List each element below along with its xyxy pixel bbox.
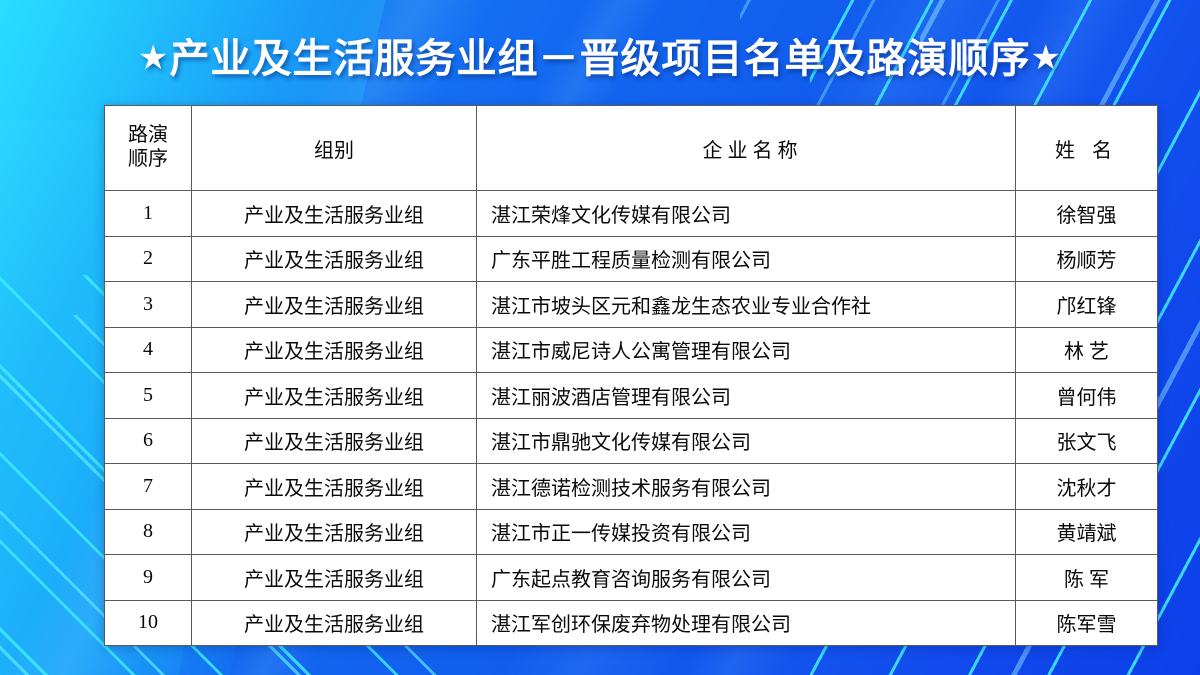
roadshow-table-container: 路演顺序 组别 企 业 名 称 姓 名 1产业及生活服务业组湛江荣烽文化传媒有限… [104, 105, 1097, 646]
table-row: 4产业及生活服务业组湛江市威尼诗人公寓管理有限公司林 艺 [105, 327, 1158, 373]
cell-group: 产业及生活服务业组 [192, 373, 477, 419]
column-header-order: 路演顺序 [105, 106, 192, 191]
table-row: 10产业及生活服务业组湛江军创环保废弃物处理有限公司陈军雪 [105, 600, 1158, 646]
table-header-row: 路演顺序 组别 企 业 名 称 姓 名 [105, 106, 1158, 191]
cell-group: 产业及生活服务业组 [192, 282, 477, 328]
table-row: 9产业及生活服务业组广东起点教育咨询服务有限公司陈 军 [105, 555, 1158, 601]
cell-company: 湛江市正一传媒投资有限公司 [477, 509, 1016, 555]
cell-company: 湛江市坡头区元和鑫龙生态农业专业合作社 [477, 282, 1016, 328]
table-row: 2产业及生活服务业组广东平胜工程质量检测有限公司杨顺芳 [105, 236, 1158, 282]
cell-company: 湛江军创环保废弃物处理有限公司 [477, 600, 1016, 646]
cell-order: 4 [105, 327, 192, 373]
cell-company: 湛江市鼎驰文化传媒有限公司 [477, 418, 1016, 464]
cell-order: 9 [105, 555, 192, 601]
cell-person: 徐智强 [1016, 191, 1158, 237]
column-header-order-line2: 顺序 [128, 148, 168, 170]
table-header: 路演顺序 组别 企 业 名 称 姓 名 [105, 106, 1158, 191]
cell-person: 林 艺 [1016, 327, 1158, 373]
star-icon-right: ★ [1031, 39, 1062, 77]
cell-company: 湛江德诺检测技术服务有限公司 [477, 464, 1016, 510]
cell-order: 10 [105, 600, 192, 646]
cell-group: 产业及生活服务业组 [192, 327, 477, 373]
table-row: 5产业及生活服务业组湛江丽波酒店管理有限公司曾何伟 [105, 373, 1158, 419]
cell-person: 邝红锋 [1016, 282, 1158, 328]
cell-group: 产业及生活服务业组 [192, 555, 477, 601]
cell-order: 7 [105, 464, 192, 510]
cell-order: 5 [105, 373, 192, 419]
cell-group: 产业及生活服务业组 [192, 236, 477, 282]
cell-person: 陈军雪 [1016, 600, 1158, 646]
table-body: 1产业及生活服务业组湛江荣烽文化传媒有限公司徐智强2产业及生活服务业组广东平胜工… [105, 191, 1158, 646]
table-row: 7产业及生活服务业组湛江德诺检测技术服务有限公司沈秋才 [105, 464, 1158, 510]
cell-group: 产业及生活服务业组 [192, 464, 477, 510]
cell-group: 产业及生活服务业组 [192, 509, 477, 555]
star-icon-left: ★ [138, 39, 169, 77]
column-header-person: 姓 名 [1016, 106, 1158, 191]
slide-title: ★产业及生活服务业组－晋级项目名单及路演顺序★ [0, 26, 1200, 84]
cell-group: 产业及生活服务业组 [192, 600, 477, 646]
cell-order: 3 [105, 282, 192, 328]
column-header-company: 企 业 名 称 [477, 106, 1016, 191]
cell-person: 杨顺芳 [1016, 236, 1158, 282]
cell-company: 广东平胜工程质量检测有限公司 [477, 236, 1016, 282]
cell-company: 湛江荣烽文化传媒有限公司 [477, 191, 1016, 237]
cell-order: 8 [105, 509, 192, 555]
cell-order: 2 [105, 236, 192, 282]
cell-person: 陈 军 [1016, 555, 1158, 601]
cell-company: 湛江丽波酒店管理有限公司 [477, 373, 1016, 419]
table-row: 6产业及生活服务业组湛江市鼎驰文化传媒有限公司张文飞 [105, 418, 1158, 464]
cell-group: 产业及生活服务业组 [192, 418, 477, 464]
roadshow-table: 路演顺序 组别 企 业 名 称 姓 名 1产业及生活服务业组湛江荣烽文化传媒有限… [104, 105, 1158, 646]
table-row: 3产业及生活服务业组湛江市坡头区元和鑫龙生态农业专业合作社邝红锋 [105, 282, 1158, 328]
cell-company: 湛江市威尼诗人公寓管理有限公司 [477, 327, 1016, 373]
cell-person: 沈秋才 [1016, 464, 1158, 510]
cell-group: 产业及生活服务业组 [192, 191, 477, 237]
cell-person: 曾何伟 [1016, 373, 1158, 419]
slide-title-text: 产业及生活服务业组－晋级项目名单及路演顺序 [170, 37, 1031, 81]
cell-person: 张文飞 [1016, 418, 1158, 464]
column-header-order-line1: 路演 [128, 124, 168, 146]
cell-person: 黄靖斌 [1016, 509, 1158, 555]
table-row: 8产业及生活服务业组湛江市正一传媒投资有限公司黄靖斌 [105, 509, 1158, 555]
column-header-group: 组别 [192, 106, 477, 191]
cell-order: 1 [105, 191, 192, 237]
table-row: 1产业及生活服务业组湛江荣烽文化传媒有限公司徐智强 [105, 191, 1158, 237]
cell-order: 6 [105, 418, 192, 464]
slide-canvas: ★产业及生活服务业组－晋级项目名单及路演顺序★ 路演顺序 组别 企 业 名 称 … [0, 0, 1200, 675]
cell-company: 广东起点教育咨询服务有限公司 [477, 555, 1016, 601]
